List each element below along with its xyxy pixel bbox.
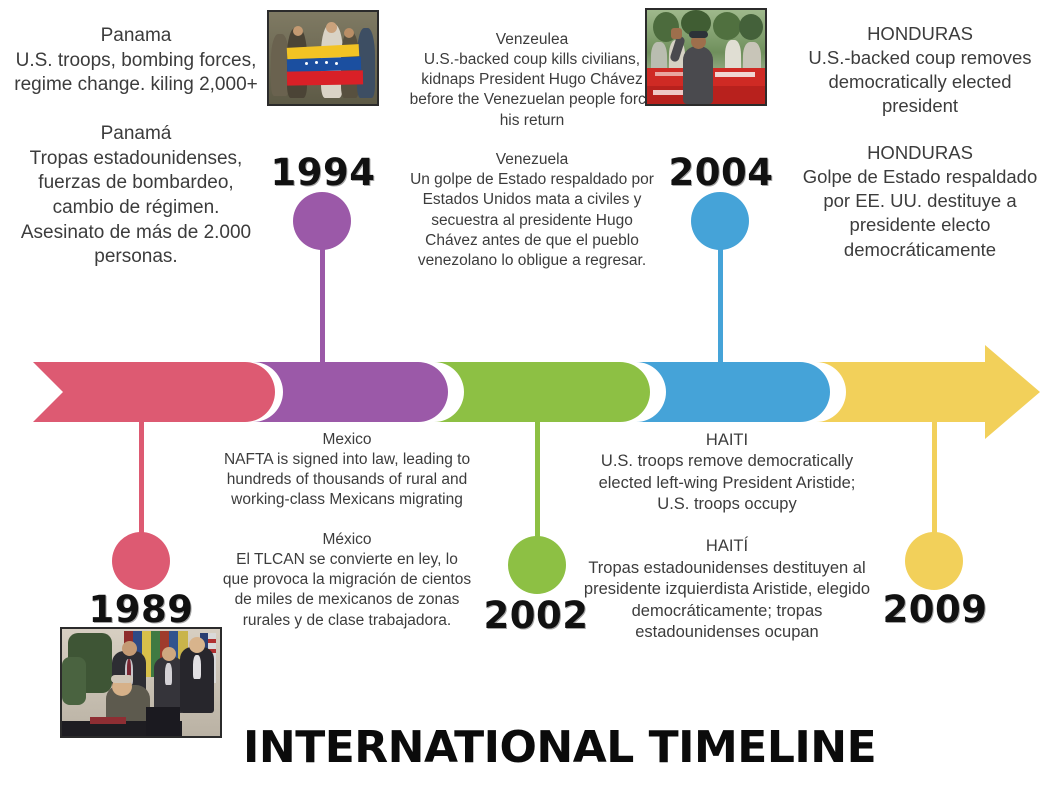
- arrow-segment-2002[interactable]: [434, 362, 650, 422]
- stem-1989: [139, 420, 144, 538]
- year-label-2004: 2004: [641, 151, 801, 194]
- arrow-segment-1989[interactable]: [33, 362, 275, 422]
- marker-dot-1994[interactable]: [293, 192, 351, 250]
- event-text-1989: Panama U.S. troops, bombing forces, regi…: [10, 24, 262, 270]
- arrow-segment-1994[interactable]: [253, 362, 448, 422]
- event-body-es-1989: Tropas estadounidenses, fuerzas de bomba…: [10, 147, 262, 270]
- event-body-es-2002: Un golpe de Estado respaldado por Estado…: [408, 170, 656, 271]
- event-body-es-2004: Tropas estadounidenses destituyen al pre…: [583, 558, 871, 644]
- event-title-en-1994: Mexico: [222, 430, 472, 450]
- marker-dot-2004[interactable]: [691, 192, 749, 250]
- event-body-en-2002: U.S.-backed coup kills civilians, kidnap…: [408, 50, 656, 131]
- event-text-2002: Venzeulea U.S.-backed coup kills civilia…: [408, 30, 656, 271]
- event-title-es-1989: Panamá: [10, 122, 262, 147]
- stem-2009: [932, 420, 937, 538]
- marker-dot-2009[interactable]: [905, 532, 963, 590]
- event-title-es-1994: México: [222, 530, 472, 550]
- timeline-infographic: 1989 1994 2002 2004 2009 Panama U.S. tro…: [0, 0, 1056, 786]
- event-body-en-1989: U.S. troops, bombing forces, regime chan…: [10, 49, 262, 98]
- page-title: INTERNATIONAL TIMELINE: [243, 722, 876, 773]
- event-text-2004: HAITI U.S. troops remove democratically …: [583, 430, 871, 644]
- event-body-en-1994: NAFTA is signed into law, leading to hun…: [222, 450, 472, 510]
- event-title-en-1989: Panama: [10, 24, 262, 49]
- arrow-segment-2004[interactable]: [636, 362, 830, 422]
- event-title-en-2002: Venzeulea: [408, 30, 656, 50]
- nafta-signing-ceremony-photo: [60, 627, 222, 738]
- year-label-1994: 1994: [243, 151, 403, 194]
- stem-1994: [320, 246, 325, 366]
- event-body-en-2004: U.S. troops remove democratically electe…: [583, 451, 871, 515]
- honduras-protest-photo: [645, 8, 767, 106]
- stem-2004: [718, 246, 723, 366]
- event-body-es-2009: Golpe de Estado respaldado por EE. UU. d…: [792, 165, 1048, 261]
- stem-2002: [535, 420, 540, 542]
- year-label-1989: 1989: [61, 588, 221, 631]
- event-title-en-2009: HONDURAS: [792, 22, 1048, 46]
- event-body-es-1994: El TLCAN se convierte en ley, lo que pro…: [222, 550, 472, 631]
- marker-dot-2002[interactable]: [508, 536, 566, 594]
- event-title-es-2002: Venezuela: [408, 150, 656, 170]
- event-text-2009: HONDURAS U.S.-backed coup removes democr…: [792, 22, 1048, 262]
- arrow-segment-2009[interactable]: [816, 345, 1040, 439]
- marker-dot-1989[interactable]: [112, 532, 170, 590]
- event-title-es-2009: HONDURAS: [792, 141, 1048, 165]
- event-title-en-2004: HAITI: [583, 430, 871, 451]
- event-body-en-2009: U.S.-backed coup removes democratically …: [792, 46, 1048, 118]
- event-text-1994: Mexico NAFTA is signed into law, leading…: [222, 430, 472, 631]
- year-label-2009: 2009: [855, 588, 1015, 631]
- venezuela-flag-protest-photo: [267, 10, 379, 106]
- event-title-es-2004: HAITÍ: [583, 536, 871, 557]
